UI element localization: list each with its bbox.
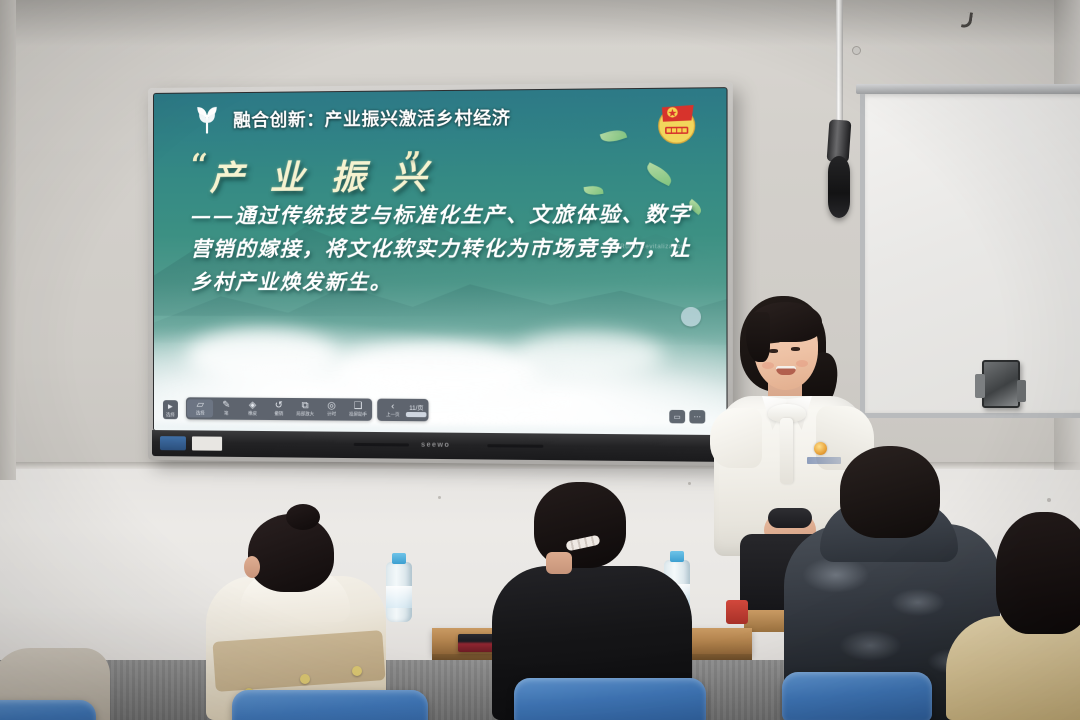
- jacket-button: [352, 666, 362, 676]
- quote-open-mark: “: [191, 148, 208, 183]
- quote-close-mark: ”: [404, 146, 422, 182]
- wall-screw: [852, 46, 861, 55]
- hanging-microphone: [828, 156, 850, 218]
- pen-icon: ✎: [222, 401, 230, 411]
- slide-toolbar[interactable]: ▱ 选择 ✎ 笔 ◈ 橡皮 ↺ 撤销: [186, 398, 429, 422]
- marker-tray: [982, 360, 1020, 408]
- slide-heading: 产 业 振 兴: [210, 149, 434, 200]
- eraser-icon: ◈: [249, 401, 256, 411]
- display-bezel: 融合创新：产业振兴激活乡村经济 “ 产 业 振 兴: [154, 88, 727, 435]
- display-vent: [487, 444, 543, 448]
- toolbar-navigation-group[interactable]: ‹ 上一页 11/页: [377, 399, 428, 422]
- toolbar-left-label: 选择: [166, 412, 175, 418]
- presenter-eye: [769, 349, 778, 353]
- pointer-icon: ▱: [197, 401, 204, 411]
- microphone-rod: [836, 0, 843, 128]
- presenter-blush: [762, 362, 774, 369]
- display-vent: [354, 443, 409, 447]
- decorative-leaf: [584, 185, 604, 197]
- ceiling-shadow: [0, 0, 1080, 46]
- toolbar-tool-eraser[interactable]: ◈ 橡皮: [239, 400, 265, 418]
- presenter-shoulder-left: [710, 408, 762, 468]
- audience-right-hair: [840, 446, 940, 538]
- presenter-ribbon: [780, 418, 793, 484]
- toolbar-page-indicator[interactable]: 11/页: [406, 403, 427, 417]
- toolbar-tool-timer[interactable]: ◎ 计时: [318, 400, 344, 418]
- wall-mark: [1047, 498, 1051, 502]
- whiteboard-frame: [856, 84, 1080, 94]
- cursor-icon: ▸: [168, 402, 173, 412]
- timer-icon: ◎: [327, 402, 335, 412]
- more-icon[interactable]: ⋯: [689, 410, 705, 424]
- page-indicator-text: 11/页: [409, 403, 423, 412]
- toolbar-tool-label: 笔: [224, 411, 228, 417]
- classroom-scene: 融合创新：产业振兴激活乡村经济 “ 产 业 振 兴: [0, 0, 1080, 720]
- toolbar-right-buttons[interactable]: ▭ ⋯: [669, 410, 705, 424]
- presenter-mouth: [776, 366, 796, 375]
- toolbar-tool-label: 投屏助手: [349, 412, 367, 418]
- interactive-display[interactable]: 融合创新：产业振兴激活乡村经济 “ 产 业 振 兴: [148, 82, 733, 466]
- presenter-held-object: [768, 508, 812, 528]
- leaf-icon: [189, 104, 225, 134]
- toolbar-prev-label: 上一页: [386, 412, 400, 418]
- decorative-leaf: [644, 163, 675, 187]
- toolbar-tool-label: 橡皮: [248, 411, 257, 417]
- display-brand-logo: seewo: [421, 442, 450, 449]
- chair-far-left: [0, 700, 96, 720]
- frame-icon: ⧉: [302, 401, 309, 411]
- minimize-icon[interactable]: ▭: [669, 410, 685, 424]
- red-object-on-desk: [726, 600, 748, 624]
- wall-mark: [688, 482, 691, 485]
- audience-left-ear: [244, 556, 260, 578]
- chair-center: [514, 678, 706, 720]
- toolbar-tool-undo[interactable]: ↺ 撤销: [266, 400, 292, 418]
- display-power-button[interactable]: [160, 436, 186, 450]
- display-chin-bezel: seewo: [152, 430, 729, 462]
- bottle-label: [386, 586, 412, 608]
- presentation-slide[interactable]: 融合创新：产业振兴激活乡村经济 “ 产 业 振 兴: [154, 88, 727, 435]
- presenter-eye: [791, 347, 800, 351]
- toolbar-tool-pen[interactable]: ✎ 笔: [213, 400, 239, 418]
- chevron-left-icon: ‹: [391, 402, 394, 412]
- screen-icon: ❑: [354, 402, 363, 412]
- toolbar-tool-label: 计时: [327, 412, 336, 418]
- toolbar-tool-label: 撤销: [274, 411, 283, 417]
- toolbar-tool-frame[interactable]: ⧉ 局部放大: [292, 400, 318, 418]
- youth-league-emblem-icon: [653, 99, 702, 147]
- presenter-blush: [796, 360, 808, 367]
- display-label-tag: [192, 436, 222, 450]
- audience-far-right-hair: [996, 512, 1080, 634]
- water-bottle: [386, 562, 412, 622]
- slide-watermark: Rural Revitalization: [620, 244, 685, 250]
- jacket-button: [300, 674, 310, 684]
- toolbar-tool-label: 选择: [196, 411, 205, 417]
- page-slider[interactable]: [406, 412, 427, 417]
- chair-right: [782, 672, 932, 720]
- toolbar-tool-label: 局部放大: [296, 411, 314, 417]
- toolbar-tool-group[interactable]: ▱ 选择 ✎ 笔 ◈ 橡皮 ↺ 撤销: [186, 398, 372, 422]
- left-wall-edge: [0, 0, 16, 480]
- presenter-name-tag: [807, 457, 841, 464]
- presenter-hair-sweep: [746, 312, 770, 362]
- toolbar-left-button[interactable]: ▸ 选择: [163, 400, 178, 419]
- audience-center-neck: [546, 552, 572, 574]
- slide-floating-button[interactable]: [680, 307, 700, 327]
- slide-body-text: ——通过传统技艺与标准化生产、文旅体验、数字营销的嫁接，将文化软实力转化为市场竞…: [191, 198, 695, 301]
- toolbar-tool-pointer[interactable]: ▱ 选择: [187, 400, 213, 418]
- wall-mark: [438, 496, 441, 499]
- slide-header-title: 融合创新：产业振兴激活乡村经济: [233, 105, 511, 133]
- audience-left-hair-bun: [286, 504, 320, 530]
- undo-icon: ↺: [275, 401, 283, 411]
- pin-badge-icon: [814, 442, 827, 455]
- whiteboard: [860, 88, 1080, 418]
- toolbar-tool-screen[interactable]: ❑ 投屏助手: [345, 401, 372, 419]
- toolbar-prev-page[interactable]: ‹ 上一页: [380, 401, 407, 419]
- chair-left: [232, 690, 428, 720]
